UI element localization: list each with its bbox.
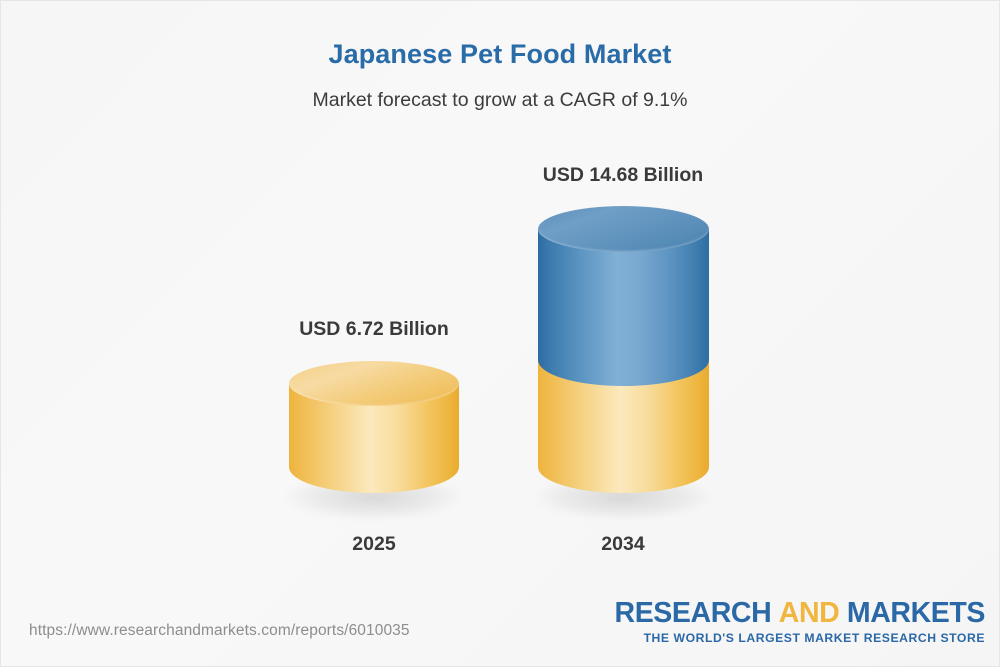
chart-canvas: Japanese Pet Food Market Market forecast… <box>0 0 1000 667</box>
bar-2034-category-label: 2034 <box>503 533 743 556</box>
brand-word-and: AND <box>779 597 840 629</box>
bar-2034-top-cap <box>538 206 709 252</box>
source-url[interactable]: https://www.researchandmarkets.com/repor… <box>29 622 410 640</box>
brand-word-markets: MARKETS <box>847 597 985 629</box>
bar-2034-value-label: USD 14.68 Billion <box>503 164 743 187</box>
brand-tagline: THE WORLD'S LARGEST MARKET RESEARCH STOR… <box>615 631 985 645</box>
bar-2025-top-cap <box>289 361 459 406</box>
chart-title: Japanese Pet Food Market <box>1 39 999 70</box>
bar-2025[interactable]: USD 6.72 Billion 2025 <box>289 361 459 511</box>
brand-logo[interactable]: RESEARCH AND MARKETS THE WORLD'S LARGEST… <box>615 599 985 645</box>
bar-2025-value-label: USD 6.72 Billion <box>254 318 494 341</box>
bar-2034[interactable]: USD 14.68 Billion 2034 <box>538 206 709 511</box>
brand-word-research: RESEARCH <box>615 597 772 629</box>
chart-subtitle: Market forecast to grow at a CAGR of 9.1… <box>1 89 999 112</box>
brand-wordmark: RESEARCH AND MARKETS <box>615 599 985 629</box>
bar-2025-category-label: 2025 <box>254 533 494 556</box>
